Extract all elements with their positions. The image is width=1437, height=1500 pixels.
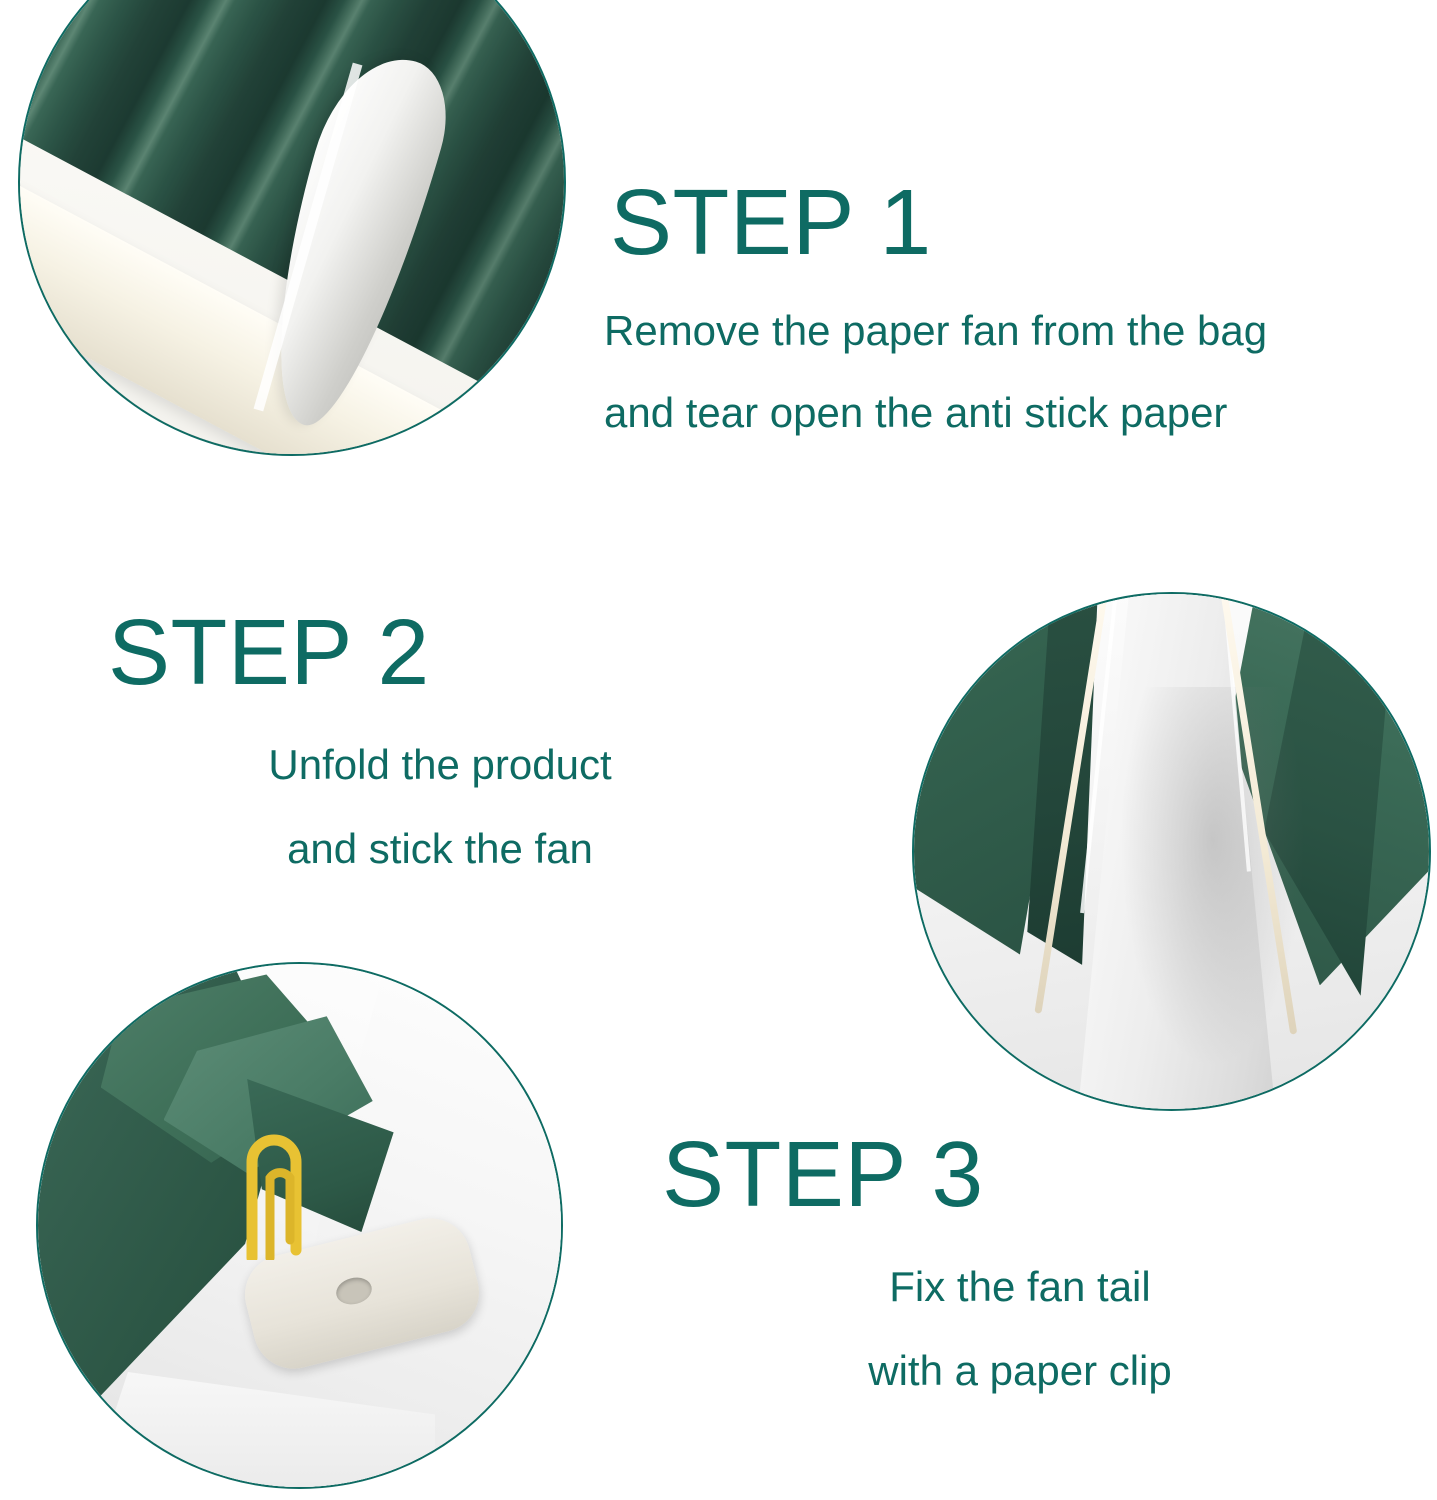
step-3-text-block: STEP 3 Fix the fan tail with a paper cli… xyxy=(650,1128,1390,1431)
step-2-title: STEP 2 xyxy=(100,606,780,699)
cone-shadow xyxy=(1120,687,1305,1068)
photo-unfolded-fan xyxy=(912,592,1431,1111)
step-2-text-block: STEP 2 Unfold the product and stick the … xyxy=(100,606,780,909)
step-3-title: STEP 3 xyxy=(650,1128,1390,1221)
photo-peeling-anti-stick-paper xyxy=(18,0,566,456)
photo-paper-clip-on-fan-tail xyxy=(36,962,563,1489)
step-1-line-2: and tear open the anti stick paper xyxy=(604,389,1267,437)
step-2-line-1: Unfold the product xyxy=(100,741,780,789)
step-1-text-block: STEP 1 Remove the paper fan from the bag… xyxy=(604,176,1267,471)
step-1-title: STEP 1 xyxy=(610,176,1267,269)
instruction-infographic: STEP 1 Remove the paper fan from the bag… xyxy=(0,0,1437,1500)
step-3-line-1: Fix the fan tail xyxy=(650,1263,1390,1311)
step-2-line-2: and stick the fan xyxy=(100,825,780,873)
step-1-line-1: Remove the paper fan from the bag xyxy=(604,307,1267,355)
step-3-line-2: with a paper clip xyxy=(650,1347,1390,1395)
yellow-paperclip-icon xyxy=(232,1100,320,1260)
